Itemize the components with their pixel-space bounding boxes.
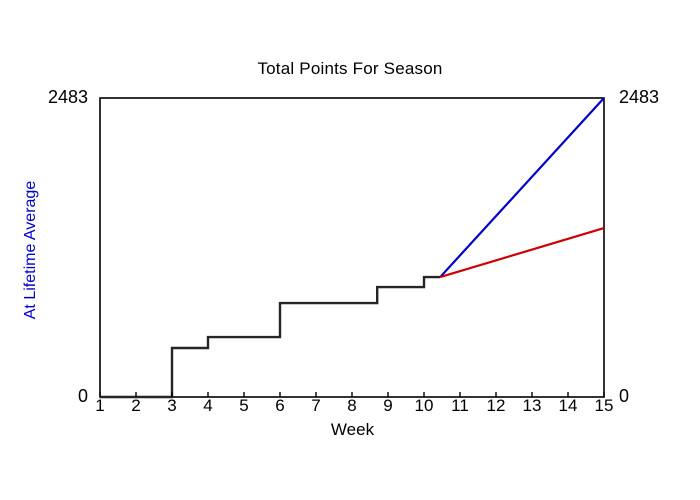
- x-axis-tick-label: 14: [553, 396, 583, 416]
- x-axis-tick-label: 10: [409, 396, 439, 416]
- y-axis-left-label: At Lifetime Average: [22, 145, 48, 355]
- chart-title: Total Points For Season: [0, 59, 700, 79]
- x-axis-tick-label: 2: [121, 396, 151, 416]
- x-axis-tick-label: 8: [337, 396, 367, 416]
- x-axis-tick-label: 4: [193, 396, 223, 416]
- series-layer: [100, 98, 604, 397]
- x-axis-tick-label: 13: [517, 396, 547, 416]
- x-axis-tick-label: 15: [589, 396, 619, 416]
- x-axis-tick-label: 3: [157, 396, 187, 416]
- series-line: [440, 228, 604, 277]
- x-axis-tick-label: 1: [85, 396, 115, 416]
- x-axis-tick-label: 12: [481, 396, 511, 416]
- x-axis-tick-label: 5: [229, 396, 259, 416]
- y-axis-right-tick-min: 0: [619, 386, 629, 407]
- x-axis-tick-label: 11: [445, 396, 475, 416]
- x-axis-label: Week: [100, 420, 605, 440]
- x-axis-tick-label: 6: [265, 396, 295, 416]
- y-axis-left-tick-max: 2483: [48, 87, 88, 108]
- plot-frame: [100, 98, 604, 397]
- x-axis-tick-label: 9: [373, 396, 403, 416]
- y-axis-right-tick-max: 2483: [619, 87, 659, 108]
- x-axis-tick-label: 7: [301, 396, 331, 416]
- series-line: [440, 98, 604, 277]
- series-line: [100, 277, 440, 397]
- chart-figure: Total Points For Season At Lifetime Aver…: [0, 0, 700, 500]
